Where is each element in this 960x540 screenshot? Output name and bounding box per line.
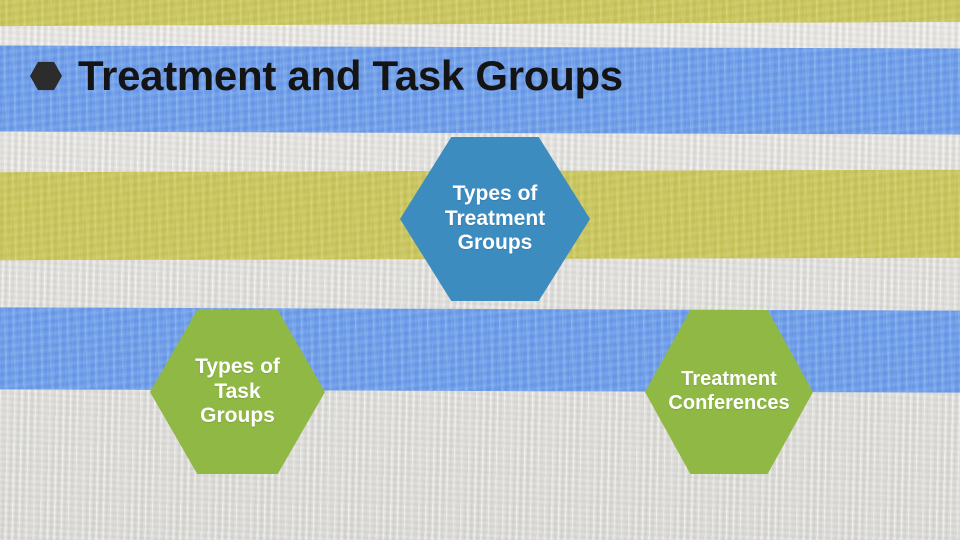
hexagon-task-groups-label: Types of Task Groups — [187, 355, 288, 429]
hexagon-treatment-conferences-label: Treatment Conferences — [666, 368, 791, 415]
hexagon-task-groups-line2: Task — [195, 380, 280, 405]
page-title: Treatment and Task Groups — [78, 55, 623, 97]
stripe-yellow-top — [0, 0, 960, 26]
hexagon-task-groups-line1: Types of — [195, 355, 280, 380]
hexagon-treatment-groups-label: Types of Treatment Groups — [437, 182, 553, 256]
slide-canvas: Treatment and Task Groups Types of Treat… — [0, 0, 960, 540]
hexagon-treatment-groups-line1: Types of — [445, 182, 545, 207]
slide-title-row: Treatment and Task Groups — [30, 55, 623, 97]
hexagon-treatment-conferences-line2: Conferences — [668, 392, 789, 416]
hexagon-treatment-groups-line3: Groups — [445, 231, 545, 256]
stripe-blue-lower — [0, 307, 960, 392]
hexagon-task-groups-line3: Groups — [195, 404, 280, 429]
hexagon-bullet-icon — [30, 61, 62, 91]
hexagon-treatment-conferences-line1: Treatment — [668, 368, 789, 392]
hexagon-treatment-groups-line2: Treatment — [445, 207, 545, 232]
